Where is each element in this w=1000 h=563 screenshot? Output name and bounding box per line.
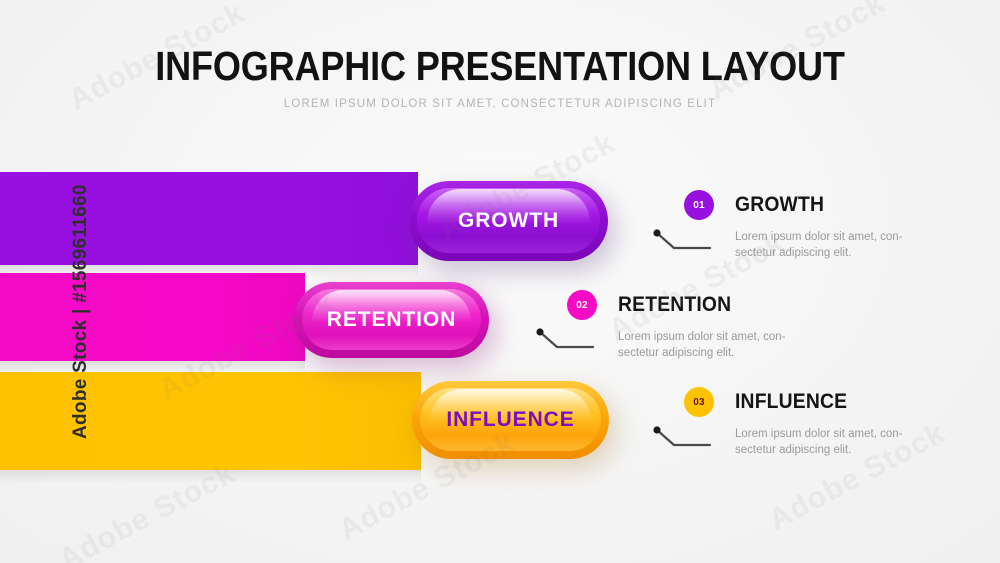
pill-label-influence: INFLUENCE <box>446 408 574 432</box>
info-description-influence: Lorem ipsum dolor sit amet, con-sectetur… <box>735 426 910 458</box>
info-head: 01 GROWTH <box>684 190 910 220</box>
info-title-influence: INFLUENCE <box>735 390 847 414</box>
page-subtitle: LOREM IPSUM DOLOR SIT AMET, CONSECTETUR … <box>0 98 1000 110</box>
badge-number-03: 03 <box>684 387 714 417</box>
infographic-canvas: Adobe Stock Adobe Stock Adobe Stock Adob… <box>0 0 1000 563</box>
info-head: 02 RETENTION <box>567 290 793 320</box>
info-title-retention: RETENTION <box>618 293 731 317</box>
bar-influence <box>0 372 421 470</box>
info-block-influence: 03 INFLUENCE Lorem ipsum dolor sit amet,… <box>684 387 910 458</box>
pill-label-growth: GROWTH <box>458 209 559 233</box>
pill-button-growth[interactable]: GROWTH <box>409 181 608 261</box>
bar-growth <box>0 172 418 265</box>
pill-label-retention: RETENTION <box>327 308 456 332</box>
page-header: INFOGRAPHIC PRESENTATION LAYOUT LOREM IP… <box>0 44 1000 110</box>
info-block-retention: 02 RETENTION Lorem ipsum dolor sit amet,… <box>567 290 793 361</box>
info-title-growth: GROWTH <box>735 193 824 217</box>
info-description-retention: Lorem ipsum dolor sit amet, con-sectetur… <box>618 329 793 361</box>
watermark-tile: Adobe Stock <box>53 456 241 563</box>
bar-retention <box>0 273 305 361</box>
info-description-growth: Lorem ipsum dolor sit amet, con-sectetur… <box>735 229 910 261</box>
badge-number-01: 01 <box>684 190 714 220</box>
info-head: 03 INFLUENCE <box>684 387 910 417</box>
info-block-growth: 01 GROWTH Lorem ipsum dolor sit amet, co… <box>684 190 910 261</box>
page-title: INFOGRAPHIC PRESENTATION LAYOUT <box>60 44 940 88</box>
badge-number-02: 02 <box>567 290 597 320</box>
pill-button-influence[interactable]: INFLUENCE <box>412 381 609 459</box>
pill-button-retention[interactable]: RETENTION <box>294 282 489 358</box>
